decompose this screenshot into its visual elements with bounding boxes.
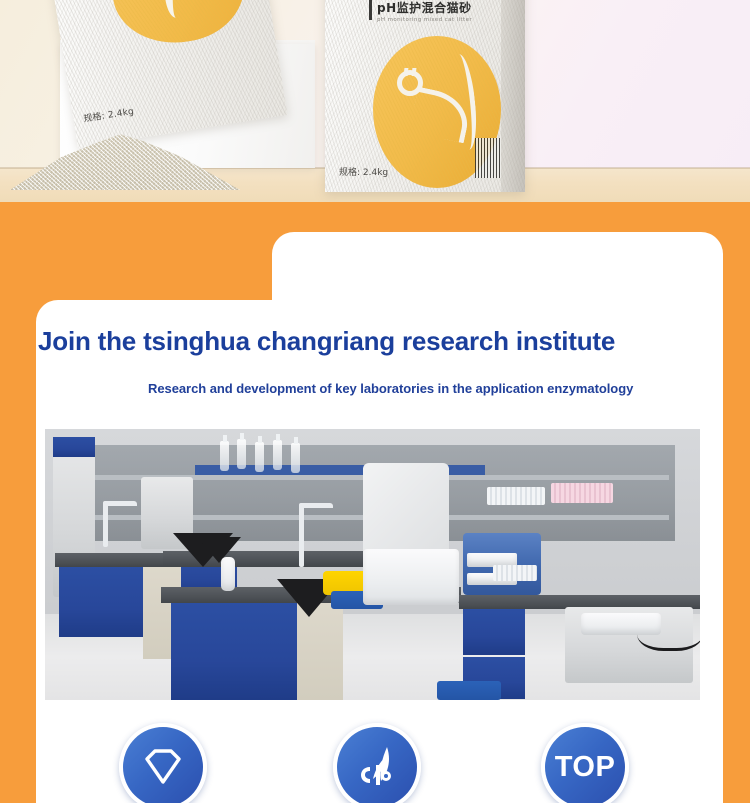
package-barcode [475,138,501,178]
lab-faucet [103,501,108,547]
cat-ears-glyph [404,68,417,76]
lab-bottle [255,442,264,472]
diamond-icon [138,745,188,789]
badge-leaf-emblem[interactable] [333,723,421,803]
lab-faucet [299,503,304,567]
package-spec-label: 规格: 2.4kg [339,165,388,178]
leaf-emblem-icon [351,741,403,793]
package-title-group: pH监护混合猫砂 pH monitoring mixed cat litter [377,2,472,23]
lab-bottle [220,441,229,471]
page-title: Join the tsinghua changriang research in… [38,326,718,357]
cat-litter-pile [0,128,250,190]
hero-product-banner: 混合猫砂 规格: 2.4kg pH监护混合猫砂 pH monitoring mi… [0,0,750,202]
lab-power-cord [637,609,700,651]
lab-pink-tip-rack [551,483,613,503]
lab-bottle [291,443,300,473]
lab-centrifuge-body [363,549,459,605]
package-title-en: pH monitoring mixed cat litter [377,18,472,24]
page-subtitle: Research and development of key laborato… [148,381,728,396]
badge-diamond[interactable] [119,723,207,803]
lab-blue-tray [437,681,501,700]
promotional-page: 混合猫砂 规格: 2.4kg pH监护混合猫砂 pH monitoring mi… [0,0,750,803]
laboratory-photo [45,429,700,700]
certification-badge-row: TOP [0,715,750,803]
top-text-badge: TOP [555,751,616,784]
lab-cabinet-top-blue [53,437,95,457]
lab-blue-cabinet [59,567,143,637]
badge-top[interactable]: TOP [541,723,629,803]
lab-blue-cabinet-front [171,603,297,700]
lab-blue-drawer-right [463,609,525,655]
lab-bottle [237,439,246,469]
litter-mound [10,132,240,190]
package-title-cn: pH监护混合猫砂 [377,2,472,15]
package-side-panel [501,0,525,192]
lab-wash-bottle [221,557,235,591]
package-title-rule [369,0,372,20]
lab-bottle [273,440,282,470]
package-spec-label: 规格: 2.4kg [82,104,134,125]
lab-beige-cabinet-front [297,603,343,700]
lab-tip-rack [487,487,545,505]
lab-tip-rack [493,565,537,581]
cat-litter-package-front: pH监护混合猫砂 pH monitoring mixed cat litter … [325,0,525,192]
